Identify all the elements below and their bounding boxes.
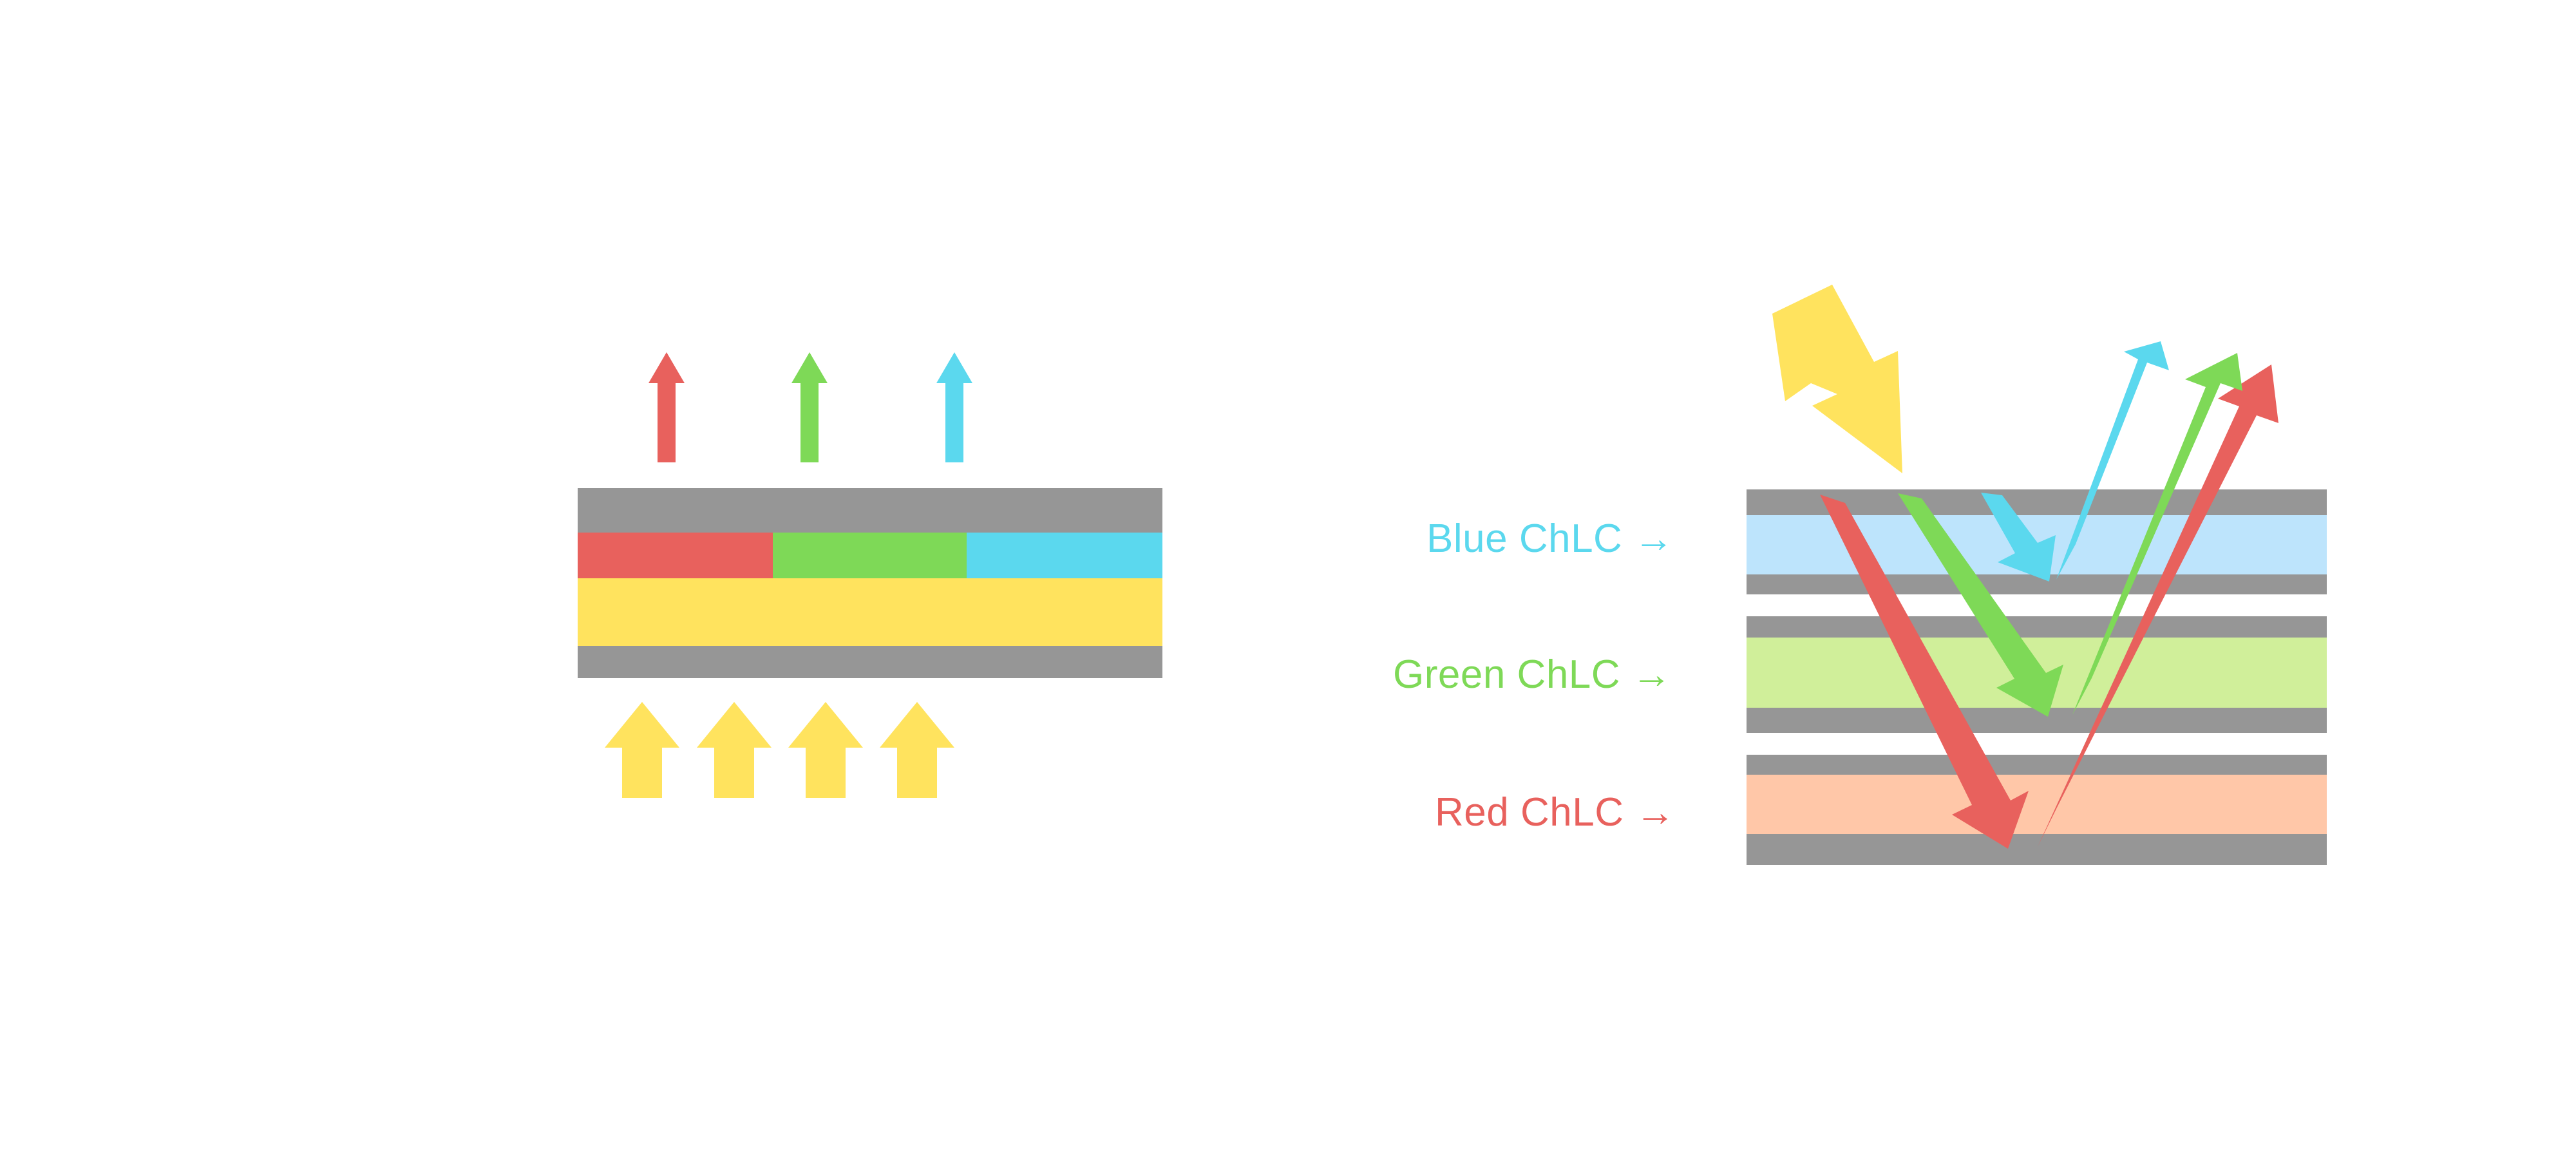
backlight-arrows-group bbox=[605, 702, 954, 798]
red-cell-bottom-electrode bbox=[1747, 834, 2327, 865]
blue-chlc-label: Blue ChLC → bbox=[1426, 516, 1674, 561]
cyan-emission-arrow bbox=[936, 352, 972, 462]
incident-light-arrow bbox=[1772, 285, 1902, 473]
backlight-source-arrow bbox=[788, 702, 863, 798]
red-emission-arrow bbox=[649, 352, 685, 462]
green-cell-bottom-electrode bbox=[1747, 708, 2327, 733]
diagram-canvas: Blue ChLC → Green ChLC → Red ChLC → bbox=[0, 0, 2576, 1154]
backlight-source-arrow bbox=[605, 702, 679, 798]
green-cell-top-electrode bbox=[1747, 616, 2327, 638]
backlight-layer bbox=[578, 578, 1162, 646]
red-cell-top-electrode bbox=[1747, 755, 2327, 775]
blue-cell-bottom-electrode bbox=[1747, 574, 2327, 594]
backlight-source-arrow bbox=[880, 702, 954, 798]
red-chlc-label: Red ChLC → bbox=[1435, 790, 1676, 835]
green-emission-arrow bbox=[791, 352, 828, 462]
color-filter-cyan bbox=[967, 533, 1162, 578]
red-cell-group bbox=[1747, 755, 2327, 865]
backlight-source-arrow bbox=[697, 702, 772, 798]
chlc-labels-group: Blue ChLC → Green ChLC → Red ChLC → bbox=[1393, 516, 1676, 835]
right-panel-group: Blue ChLC → Green ChLC → Red ChLC → bbox=[1393, 285, 2327, 865]
left-top-electrode bbox=[578, 488, 1162, 533]
color-filter-green bbox=[773, 533, 967, 578]
left-panel-stack bbox=[578, 488, 1162, 678]
emission-arrows-group bbox=[649, 352, 972, 462]
color-filter-red bbox=[578, 533, 773, 578]
red-cell-layer bbox=[1747, 775, 2327, 834]
left-panel-group bbox=[578, 352, 1162, 798]
left-bottom-electrode bbox=[578, 646, 1162, 678]
chlc-diagram-svg: Blue ChLC → Green ChLC → Red ChLC → bbox=[0, 0, 2576, 1154]
green-chlc-label: Green ChLC → bbox=[1393, 652, 1672, 697]
